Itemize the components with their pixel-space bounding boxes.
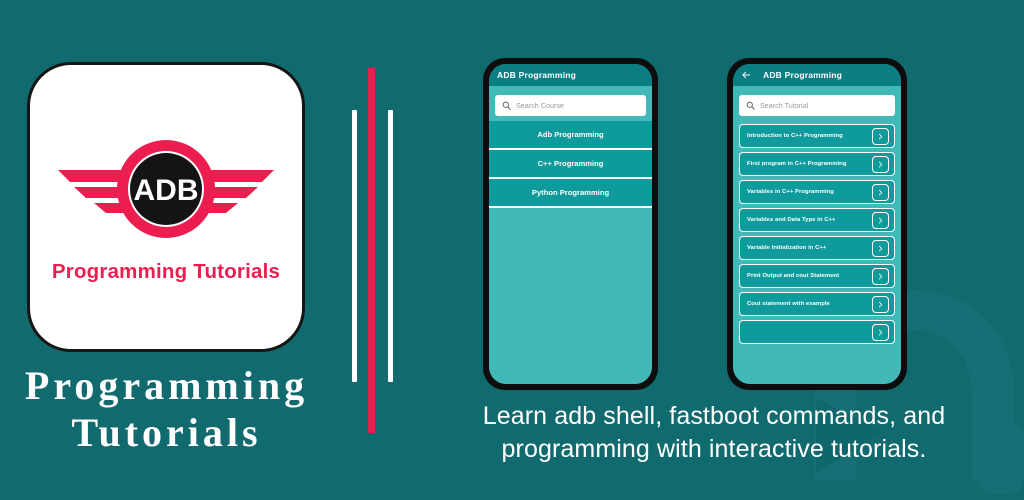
tutorials-appbar: ADB Programming xyxy=(733,64,901,86)
divider-bar-white-left xyxy=(352,110,357,382)
adb-wings-logo: ADB xyxy=(50,137,282,242)
courses-search-placeholder: Search Course xyxy=(516,101,564,110)
open-tutorial-button[interactable] xyxy=(872,184,889,201)
open-tutorial-button[interactable] xyxy=(872,128,889,145)
list-item-label: Variable Initialization in C++ xyxy=(747,245,826,251)
phone-mockup-courses: ADB Programming Search Course Adb Progra… xyxy=(483,58,658,390)
chevron-right-icon xyxy=(877,301,884,308)
open-tutorial-button[interactable] xyxy=(872,212,889,229)
list-item[interactable]: Adb Programming xyxy=(489,121,652,150)
chevron-right-icon xyxy=(877,161,884,168)
page-title-line1: Programming xyxy=(25,363,308,408)
promo-caption: Learn adb shell, fastboot commands, and … xyxy=(404,400,1024,466)
phone-mockup-tutorials: ADB Programming Search Tutorial Introduc… xyxy=(727,58,907,390)
open-tutorial-button[interactable] xyxy=(872,240,889,257)
list-item[interactable]: Variables and Data Type in C++ xyxy=(739,208,895,232)
list-item[interactable] xyxy=(739,320,895,344)
list-item-label: Introduction to C++ Programming xyxy=(747,133,843,139)
promo-caption-line2: programming with interactive tutorials. xyxy=(404,433,1024,466)
chevron-right-icon xyxy=(877,217,884,224)
back-button[interactable] xyxy=(741,70,751,80)
list-item[interactable]: Introduction to C++ Programming xyxy=(739,124,895,148)
open-tutorial-button[interactable] xyxy=(872,324,889,341)
list-item[interactable]: Print Output and cout Statement xyxy=(739,264,895,288)
list-item[interactable]: Python Programming xyxy=(489,179,652,208)
app-icon-tagline: Programming Tutorials xyxy=(52,260,280,284)
arrow-left-icon xyxy=(741,70,751,80)
courses-list[interactable]: Adb Programming C++ Programming Python P… xyxy=(489,121,652,384)
tutorials-search-input[interactable]: Search Tutorial xyxy=(739,95,895,116)
list-item-label: Cout statement with example xyxy=(747,301,830,307)
chevron-right-icon xyxy=(877,273,884,280)
adb-badge-text: ADB xyxy=(134,174,199,207)
list-item-label: First program in C++ Programming xyxy=(747,161,846,167)
promo-caption-line1: Learn adb shell, fastboot commands, and xyxy=(483,402,946,430)
page-title-line2: Tutorials xyxy=(14,409,319,456)
list-item[interactable]: First program in C++ Programming xyxy=(739,152,895,176)
tutorials-screen: ADB Programming Search Tutorial Introduc… xyxy=(733,64,901,384)
courses-search-container: Search Course xyxy=(489,86,652,121)
list-item[interactable]: Cout statement with example xyxy=(739,292,895,316)
courses-search-input[interactable]: Search Course xyxy=(495,95,646,116)
chevron-right-icon xyxy=(877,189,884,196)
chevron-right-icon xyxy=(877,329,884,336)
list-item[interactable]: Variable Initialization in C++ xyxy=(739,236,895,260)
divider-bars xyxy=(352,0,398,500)
divider-bar-white-right xyxy=(388,110,393,382)
courses-screen: ADB Programming Search Course Adb Progra… xyxy=(489,64,652,384)
open-tutorial-button[interactable] xyxy=(872,268,889,285)
open-tutorial-button[interactable] xyxy=(872,156,889,173)
list-item[interactable]: Variables in C++ Programming xyxy=(739,180,895,204)
courses-appbar: ADB Programming xyxy=(489,64,652,86)
chevron-right-icon xyxy=(877,245,884,252)
divider-bar-accent xyxy=(368,68,375,433)
list-item-label: Variables in C++ Programming xyxy=(747,189,834,195)
app-icon-card: ADB Programming Tutorials xyxy=(27,62,305,352)
chevron-right-icon xyxy=(877,133,884,140)
tutorials-search-placeholder: Search Tutorial xyxy=(760,101,808,110)
courses-appbar-title: ADB Programming xyxy=(497,70,576,80)
promo-banner: ADB Programming Tutorials Programming Tu… xyxy=(0,0,1024,500)
search-icon xyxy=(746,101,755,110)
page-title: Programming Tutorials xyxy=(14,362,319,456)
search-icon xyxy=(502,101,511,110)
tutorials-search-container: Search Tutorial xyxy=(733,86,901,121)
open-tutorial-button[interactable] xyxy=(872,296,889,313)
list-item[interactable]: C++ Programming xyxy=(489,150,652,179)
list-item-label: Print Output and cout Statement xyxy=(747,273,839,279)
tutorials-appbar-title: ADB Programming xyxy=(763,70,842,80)
list-item-label: Variables and Data Type in C++ xyxy=(747,217,835,223)
tutorials-list[interactable]: Introduction to C++ Programming First pr… xyxy=(733,121,901,384)
